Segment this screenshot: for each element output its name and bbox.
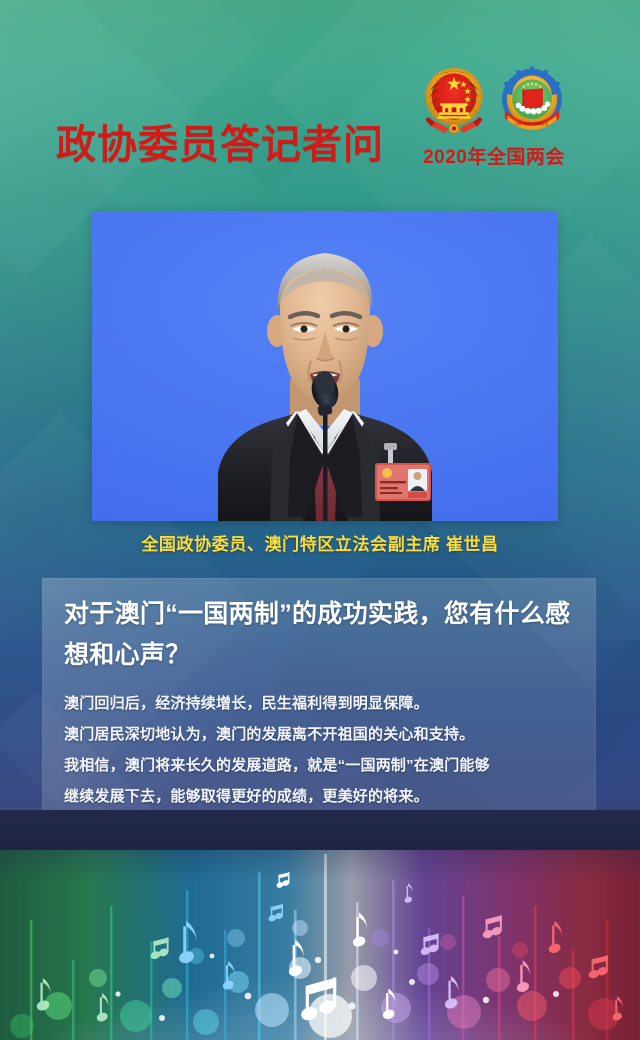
speaker-illustration xyxy=(92,211,558,521)
emblem-group: 中国人民政治协商会议 xyxy=(418,58,568,142)
cppcc-emblem-icon: 中国人民政治协商会议 xyxy=(498,62,566,142)
answer-line: 澳门回归后，经济持续增长，民生福利得到明显保障。 xyxy=(64,688,584,719)
answer-text: 澳门回归后，经济持续增长，民生福利得到明显保障。 澳门居民深切地认为，澳门的发展… xyxy=(64,688,584,812)
answer-line: 继续发展下去，能够取得更好的成绩，更美好的将来。 xyxy=(64,781,584,812)
music-notes-footer xyxy=(0,810,640,1040)
national-emblem-of-china-icon xyxy=(420,62,488,142)
header: 政协委员答记者问 xyxy=(0,0,640,195)
answer-line: 澳门居民深切地认为，澳门的发展离不开祖国的关心和支持。 xyxy=(64,719,584,750)
question-text: 对于澳门“一国两制”的成功实践，您有什么感想和心声？ xyxy=(64,594,580,676)
poster-root: 政协委员答记者问 xyxy=(0,0,640,1040)
svg-text:中国人民政治协商会议: 中国人民政治协商会议 xyxy=(514,121,549,126)
header-subtitle: 2020年全国两会 xyxy=(418,142,570,169)
page-title: 政协委员答记者问 xyxy=(56,112,384,170)
speaker-photo xyxy=(92,211,558,521)
answer-line: 我相信，澳门将来长久的发展道路，就是“一国两制”在澳门能够 xyxy=(64,750,584,781)
photo-caption: 全国政协委员、澳门特区立法会副主席 崔世昌 xyxy=(0,530,640,555)
content-card: 对于澳门“一国两制”的成功实践，您有什么感想和心声？ 澳门回归后，经济持续增长，… xyxy=(42,578,596,845)
music-notes-decoration xyxy=(0,810,640,1040)
